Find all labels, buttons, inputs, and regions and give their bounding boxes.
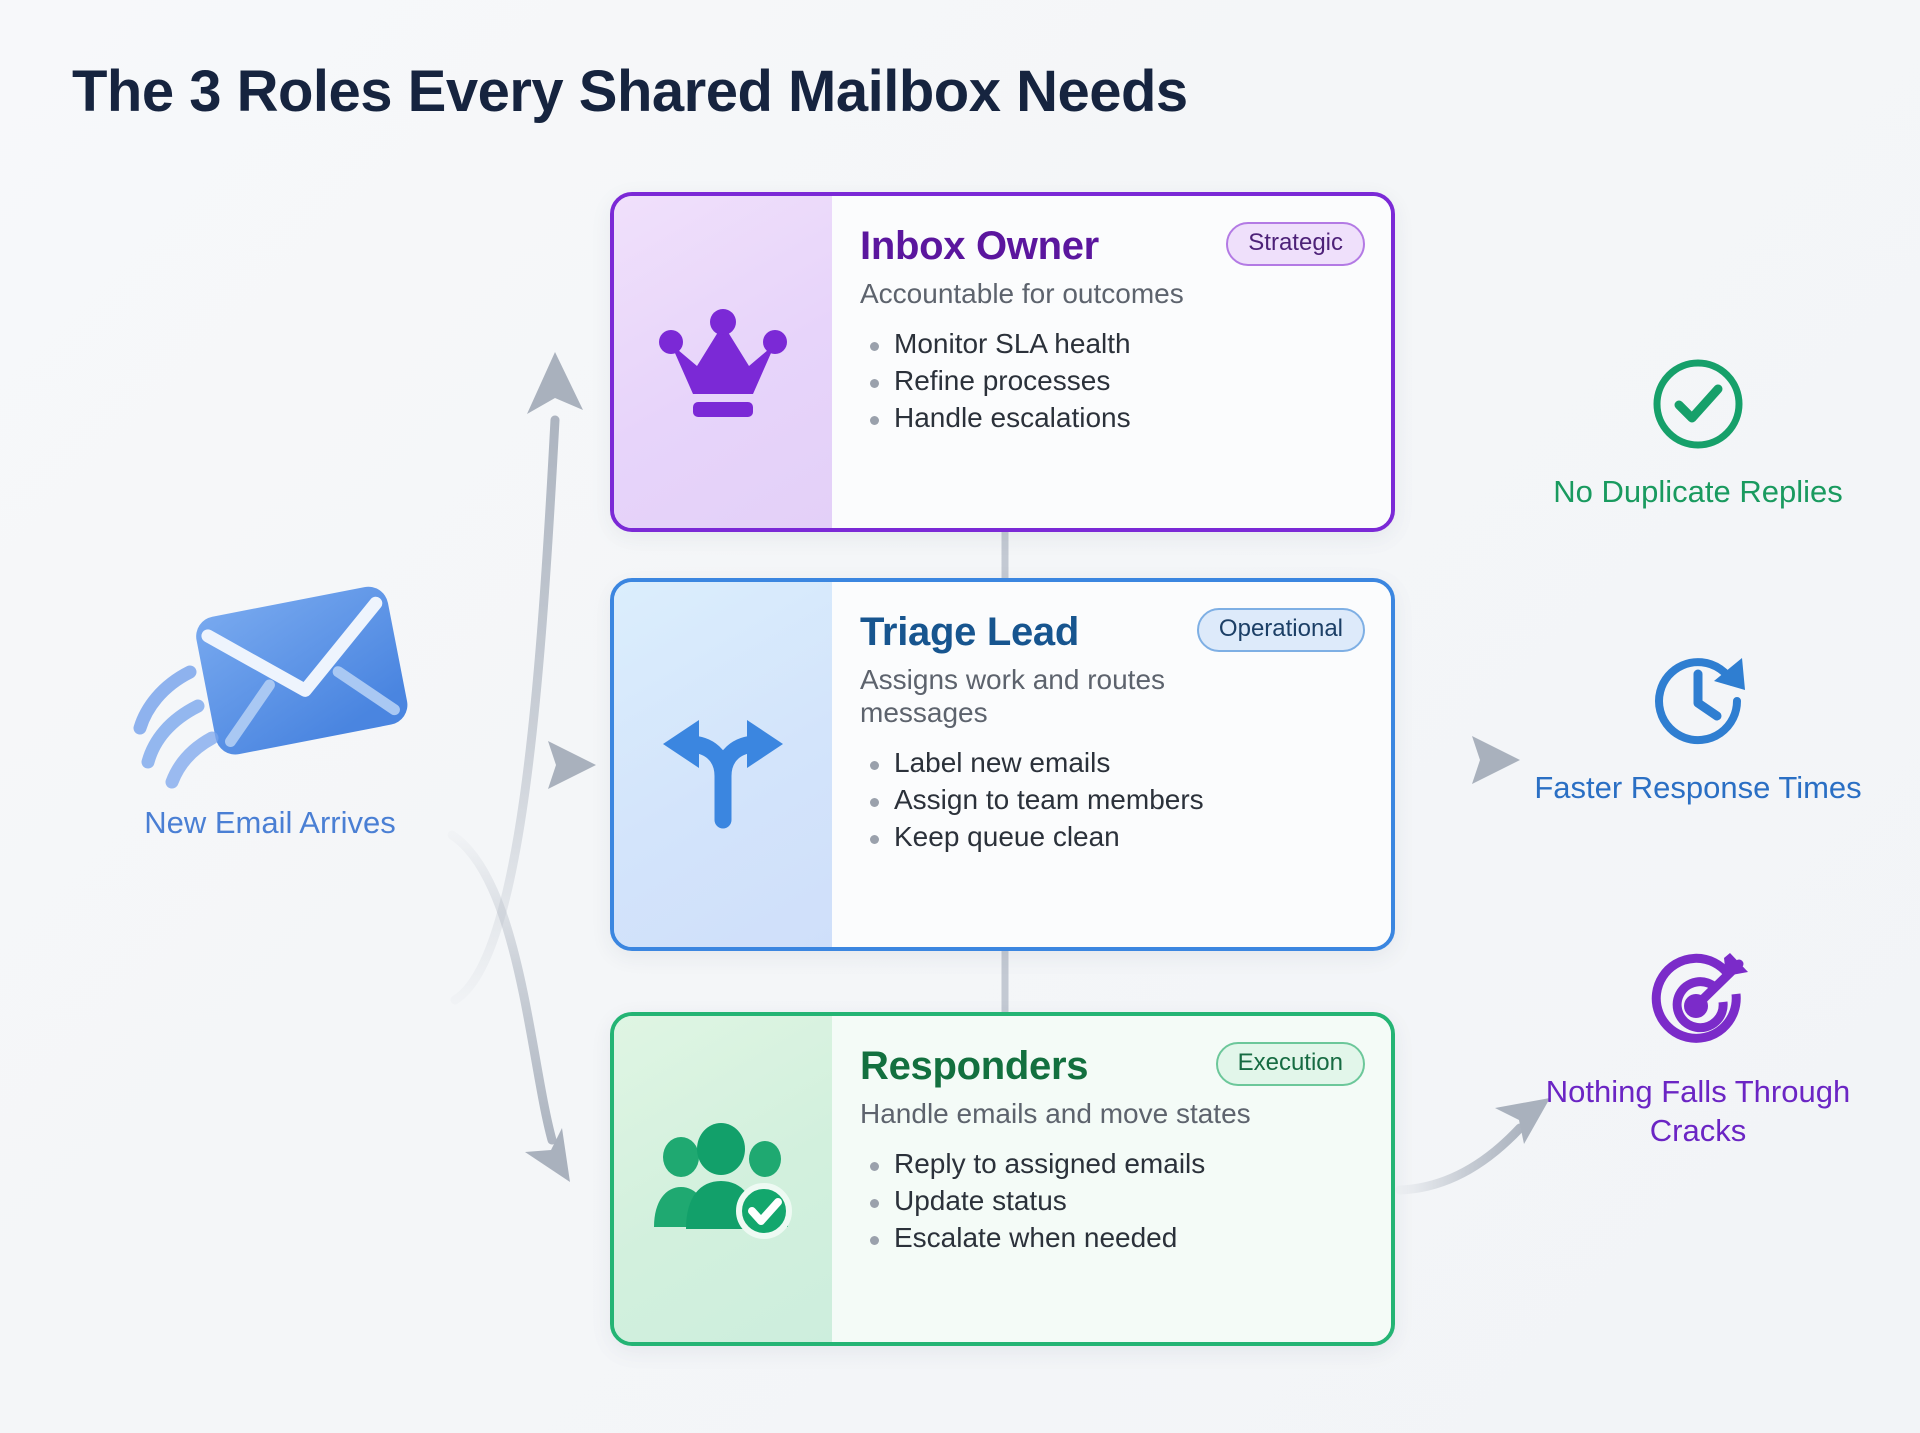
outcome-label: Faster Response Times: [1528, 768, 1868, 807]
list-item: Escalate when needed: [860, 1220, 1361, 1257]
list-item: Monitor SLA health: [860, 326, 1361, 363]
envelope-icon: [105, 580, 435, 790]
check-circle-icon: [1528, 352, 1868, 456]
card-bullet-list: Monitor SLA health Refine processes Hand…: [860, 326, 1361, 437]
list-item: Update status: [860, 1183, 1361, 1220]
card-subtitle: Accountable for outcomes: [860, 277, 1290, 310]
card-subtitle: Handle emails and move states: [860, 1097, 1290, 1130]
list-item: Label new emails: [860, 745, 1361, 782]
card-bullet-list: Reply to assigned emails Update status E…: [860, 1146, 1361, 1257]
fork-arrows-icon: [614, 582, 832, 947]
outcome-label: Nothing Falls Through Cracks: [1528, 1072, 1868, 1150]
card-body: Execution Responders Handle emails and m…: [832, 1016, 1391, 1342]
card-body: Operational Triage Lead Assigns work and…: [832, 582, 1391, 947]
source-node: New Email Arrives: [105, 580, 435, 843]
role-card-responders[interactable]: Execution Responders Handle emails and m…: [610, 1012, 1395, 1346]
source-label: New Email Arrives: [105, 804, 435, 843]
arrow-triage-to-outcome: [1400, 736, 1520, 784]
card-body: Strategic Inbox Owner Accountable for ou…: [832, 196, 1391, 528]
arrow-source-to-triage: [452, 741, 596, 789]
crown-icon: [614, 196, 832, 528]
list-item: Keep queue clean: [860, 819, 1361, 856]
people-check-icon: [614, 1016, 832, 1342]
infographic-canvas: The 3 Roles Every Shared Mailbox Needs: [0, 0, 1920, 1433]
role-card-triage-lead[interactable]: Operational Triage Lead Assigns work and…: [610, 578, 1395, 951]
status-badge: Execution: [1216, 1042, 1365, 1086]
card-bullet-list: Label new emails Assign to team members …: [860, 745, 1361, 856]
list-item: Assign to team members: [860, 782, 1361, 819]
arrow-source-to-owner: [455, 352, 583, 1000]
outcome-faster-response-times: Faster Response Times: [1528, 648, 1868, 807]
page-title: The 3 Roles Every Shared Mailbox Needs: [72, 58, 1188, 125]
status-badge: Strategic: [1226, 222, 1365, 266]
card-subtitle: Assigns work and routes messages: [860, 663, 1290, 729]
outcome-nothing-falls-through-cracks: Nothing Falls Through Cracks: [1528, 952, 1868, 1150]
clock-arrow-icon: [1528, 648, 1868, 752]
role-card-inbox-owner[interactable]: Strategic Inbox Owner Accountable for ou…: [610, 192, 1395, 532]
list-item: Reply to assigned emails: [860, 1146, 1361, 1183]
list-item: Handle escalations: [860, 400, 1361, 437]
target-arrow-icon: [1528, 952, 1868, 1056]
list-item: Refine processes: [860, 363, 1361, 400]
arrow-source-to-responders: [452, 835, 570, 1182]
status-badge: Operational: [1197, 608, 1365, 652]
outcome-label: No Duplicate Replies: [1528, 472, 1868, 511]
outcome-no-duplicate-replies: No Duplicate Replies: [1528, 352, 1868, 511]
